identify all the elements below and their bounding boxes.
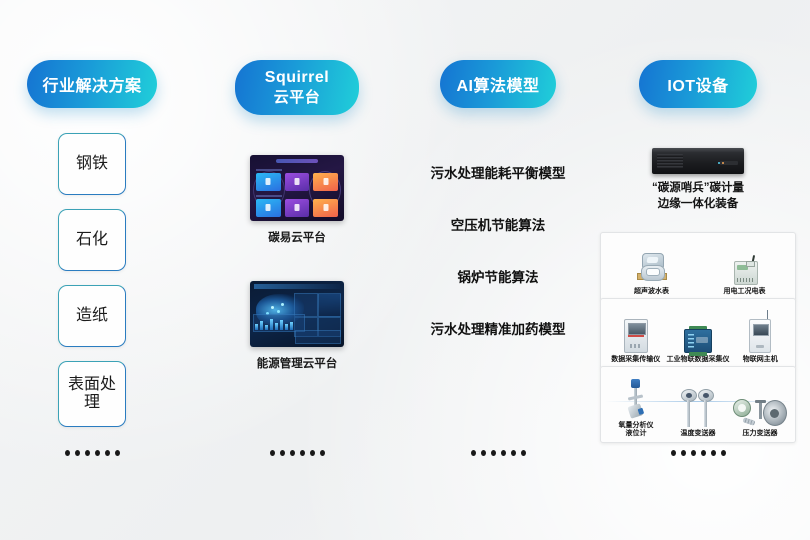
more-dots-ai <box>398 450 598 456</box>
ai-model-air-compressor-saving[interactable]: 空压机节能算法 <box>451 214 546 234</box>
tile-purple <box>285 199 310 217</box>
tile-orange <box>313 199 338 217</box>
dot <box>280 450 285 456</box>
section-label <box>256 169 282 171</box>
device-group-meters: 超声波水表 用电工况电表 <box>600 232 796 301</box>
flagship-device-caption: “碳源哨兵”碳计量 边缘一体化装备 <box>652 181 744 212</box>
architecture-diagram: 行业解决方案 钢铁 石化 造纸 表面处理 Squirr <box>0 0 810 540</box>
device-data-acquisition-terminal[interactable]: 数据采集传输仪 <box>605 319 667 365</box>
dot <box>491 450 496 456</box>
platform-caption: 碳易云平台 <box>268 229 326 245</box>
bar <box>280 320 283 330</box>
dot <box>310 450 315 456</box>
device-label: 超声波水表 <box>634 288 669 297</box>
industry-item-label: 石化 <box>76 231 108 249</box>
dot <box>701 450 706 456</box>
pill-label: 行业解决方案 <box>42 72 141 96</box>
flagship-caption-line2: 边缘一体化装备 <box>652 197 744 213</box>
device-label: 用电工况电表 <box>724 288 766 297</box>
dot <box>320 450 325 456</box>
more-dots-iot <box>598 450 798 456</box>
section-label <box>256 195 282 197</box>
dot <box>75 450 80 456</box>
device-ultrasonic-water-meter[interactable]: 超声波水表 <box>605 253 698 297</box>
dot <box>65 450 70 456</box>
device-label: 工业物联数据采集仪 <box>667 356 730 365</box>
bar <box>290 322 293 330</box>
device-group-acquisition: 数据采集传输仪 工业物联数据采集仪 物联网主机 <box>600 298 796 369</box>
industry-item-label: 造纸 <box>76 307 108 325</box>
dot <box>270 450 275 456</box>
bar <box>285 324 288 330</box>
industrial-iot-gateway-icon <box>684 329 712 353</box>
column-squirrel-cloud: Squirrel 云平台 <box>197 0 397 540</box>
pill-wrap-cloud: Squirrel 云平台 <box>197 60 397 115</box>
device-temperature-transmitter[interactable]: 温度变送器 <box>667 389 729 439</box>
dot <box>511 450 516 456</box>
data-acquisition-terminal-icon <box>624 319 648 353</box>
device-label: 温度变送器 <box>681 430 716 439</box>
device-label: 压力变送器 <box>743 430 778 439</box>
bar <box>260 321 263 330</box>
dot <box>501 450 506 456</box>
device-iot-host[interactable]: 物联网主机 <box>730 319 792 365</box>
dot <box>300 450 305 456</box>
device-label-main: 氧量分析仪 <box>619 422 654 429</box>
dot <box>95 450 100 456</box>
pressure-gauge-icon <box>733 397 755 427</box>
dot <box>721 450 726 456</box>
more-dots-cloud <box>197 450 397 456</box>
device-label: 氧量分析仪 液位计 <box>619 422 654 440</box>
dot <box>691 450 696 456</box>
bar-chart <box>255 318 293 330</box>
dashboard-titlebar <box>276 159 318 163</box>
dot <box>481 450 486 456</box>
pill-wrap-industry: 行业解决方案 <box>0 60 192 108</box>
flagship-caption-line1: “碳源哨兵”碳计量 <box>652 181 744 197</box>
dashboard-header <box>254 284 340 289</box>
dot <box>471 450 476 456</box>
carbon-cloud-dashboard-screenshot <box>250 155 344 221</box>
industry-item-surface-treatment[interactable]: 表面处理 <box>58 361 126 427</box>
device-pressure-transmitter[interactable]: 压力变送器 <box>729 397 791 439</box>
oxygen-analyzer-icon <box>624 379 648 419</box>
device-electric-meter[interactable]: 用电工况电表 <box>698 255 791 297</box>
tile-grid-row1 <box>256 173 338 191</box>
server-chassis <box>652 148 744 174</box>
ai-model-list: 污水处理能耗平衡模型 空压机节能算法 锅炉节能算法 污水处理精准加药模型 <box>398 162 598 338</box>
temperature-transmitter-icon <box>681 389 715 427</box>
dot <box>105 450 110 456</box>
pill-label: IOT设备 <box>667 72 728 96</box>
device-oxygen-analyzer[interactable]: 氧量分析仪 液位计 <box>605 379 667 440</box>
column-iot-devices: IOT设备 “碳源哨兵”碳计量 边缘一体化装备 超声波水表 <box>598 0 798 540</box>
industry-item-label: 钢铁 <box>76 155 108 173</box>
pressure-flange-icon <box>757 397 787 427</box>
tile-purple <box>285 173 310 191</box>
device-group-sensors: 氧量分析仪 液位计 温度变送器 <box>600 366 796 443</box>
dot <box>290 450 295 456</box>
dot <box>115 450 120 456</box>
tile-blue <box>256 173 281 191</box>
dot <box>681 450 686 456</box>
flagship-device[interactable]: “碳源哨兵”碳计量 边缘一体化装备 <box>598 148 798 212</box>
tile-blue <box>256 199 281 217</box>
bar <box>270 319 273 330</box>
device-label: 数据采集传输仪 <box>611 356 660 365</box>
water-meter-icon <box>639 253 665 285</box>
trend-panel <box>295 330 341 344</box>
dot <box>521 450 526 456</box>
industry-list: 钢铁 石化 造纸 表面处理 <box>0 133 192 427</box>
pill-label: AI算法模型 <box>456 72 539 96</box>
industry-item-petrochemical[interactable]: 石化 <box>58 209 126 271</box>
line-chart-panel <box>318 293 341 317</box>
platform-caption: 能源管理云平台 <box>257 355 338 371</box>
ai-model-wastewater-energy-balance[interactable]: 污水处理能耗平衡模型 <box>431 162 566 182</box>
column-industry-solutions: 行业解决方案 钢铁 石化 造纸 表面处理 <box>0 0 192 540</box>
ai-model-boiler-saving[interactable]: 锅炉节能算法 <box>458 266 539 286</box>
rack-server-icon <box>652 148 744 174</box>
bar <box>255 324 258 330</box>
industry-item-paper[interactable]: 造纸 <box>58 285 126 347</box>
bar <box>275 323 278 330</box>
industry-item-steel[interactable]: 钢铁 <box>58 133 126 195</box>
header-pill-iot-devices[interactable]: IOT设备 <box>639 60 757 108</box>
electric-meter-icon <box>732 255 758 285</box>
energy-management-dashboard-screenshot <box>250 281 344 347</box>
tile-grid-row2 <box>256 199 338 217</box>
more-dots-industry <box>0 450 192 456</box>
dot <box>671 450 676 456</box>
tile-orange <box>313 173 338 191</box>
status-led <box>718 162 720 164</box>
header-pill-industry-solutions[interactable]: 行业解决方案 <box>27 60 157 108</box>
ai-model-wastewater-precise-dosing[interactable]: 污水处理精准加药模型 <box>431 318 566 338</box>
platform-energy-management[interactable]: 能源管理云平台 <box>197 281 397 371</box>
device-label-sub: 液位计 <box>619 430 654 439</box>
pill-label-line1: Squirrel <box>265 68 329 88</box>
pill-wrap-ai: AI算法模型 <box>398 60 598 108</box>
pill-label-line2: 云平台 <box>274 88 321 107</box>
industry-item-label: 表面处理 <box>61 376 123 413</box>
dot <box>711 450 716 456</box>
header-pill-squirrel-cloud[interactable]: Squirrel 云平台 <box>235 60 359 115</box>
device-label: 物联网主机 <box>743 356 778 365</box>
column-ai-models: AI算法模型 污水处理能耗平衡模型 空压机节能算法 锅炉节能算法 污水处理精准加… <box>398 0 598 540</box>
platform-carbon-cloud[interactable]: 碳易云平台 <box>197 155 397 245</box>
device-industrial-iot-gateway[interactable]: 工业物联数据采集仪 <box>667 329 730 365</box>
header-pill-ai-models[interactable]: AI算法模型 <box>440 60 556 108</box>
pill-wrap-iot: IOT设备 <box>598 60 798 108</box>
bar <box>265 325 268 330</box>
dot <box>85 450 90 456</box>
iot-host-icon <box>749 319 771 353</box>
